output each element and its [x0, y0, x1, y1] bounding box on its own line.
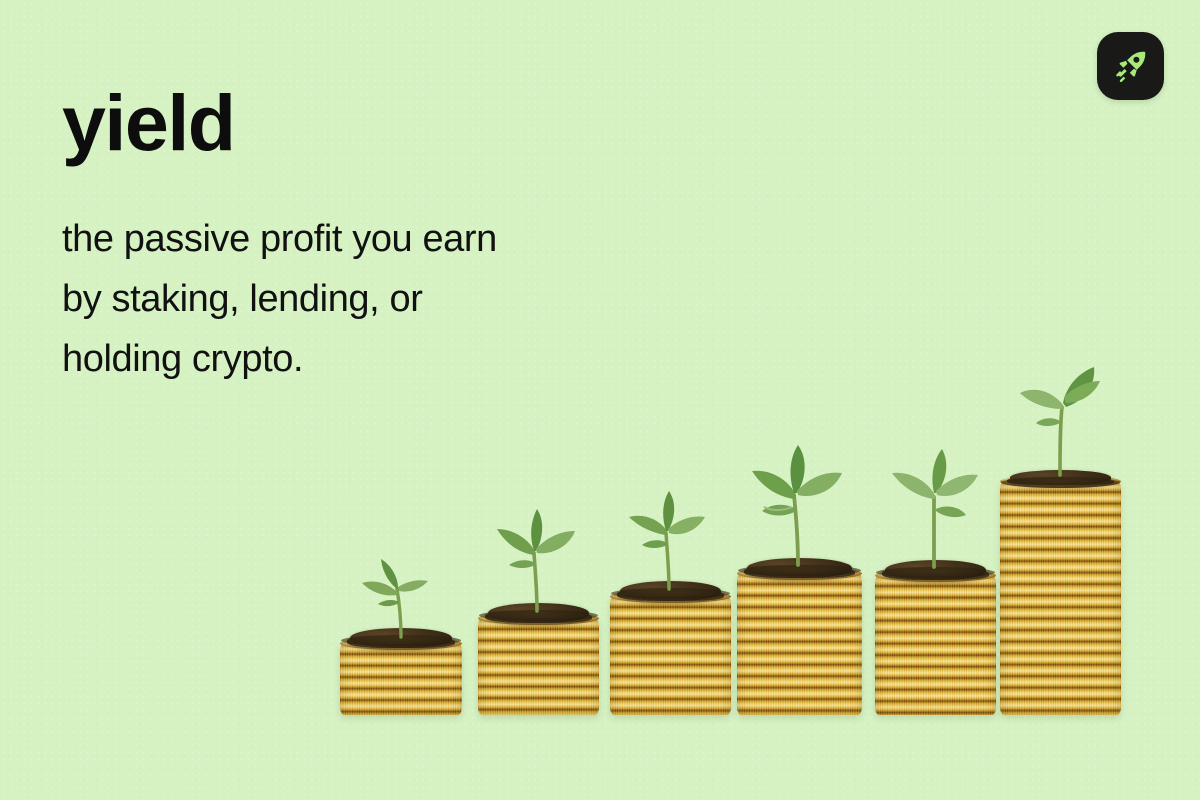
logo-badge[interactable]: [1097, 32, 1164, 100]
coin-stack-4: [737, 573, 862, 715]
rocket-icon: [1111, 46, 1151, 86]
seedling: [346, 545, 456, 637]
seedling: [996, 363, 1126, 475]
coin-stack-3: [610, 596, 731, 715]
seedling: [609, 485, 733, 589]
seedling: [730, 441, 870, 565]
coin-stacks-photo: [300, 360, 1180, 760]
coin-stack-6: [1000, 481, 1121, 715]
seedling: [868, 445, 1004, 567]
page-title: yield: [62, 84, 702, 161]
seedling: [475, 503, 603, 611]
coin-stack-5: [875, 575, 996, 715]
coin-stack-2: [478, 618, 599, 715]
text-block: yield the passive profit you earn by sta…: [62, 84, 702, 389]
coin-stack-1: [340, 643, 462, 715]
glossary-card: yield the passive profit you earn by sta…: [0, 0, 1200, 800]
